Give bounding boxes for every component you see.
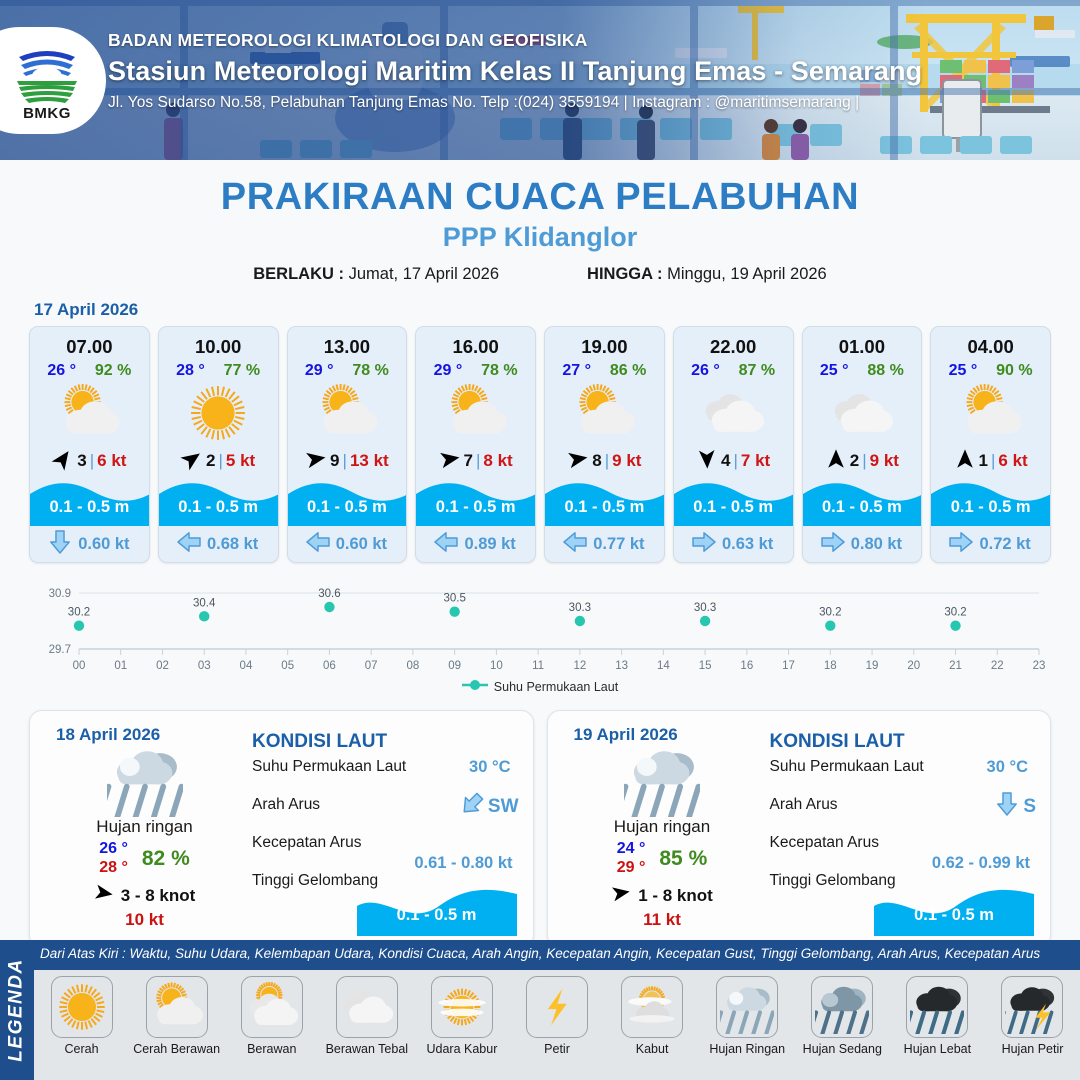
svg-text:04: 04 (240, 660, 253, 672)
card-wind-row: 1 | 6 kt (931, 444, 1050, 478)
card-time: 19.00 (545, 327, 664, 358)
card-weather-partly-cloudy-icon (545, 382, 664, 444)
wind-separator: | (219, 451, 223, 471)
current-speed-value: 0.61 - 0.80 kt (414, 854, 512, 873)
legend-item-label: Cerah (34, 1042, 129, 1056)
card-wave-block: 0.1 - 0.5 m (931, 478, 1050, 526)
day-weather-light-rain-icon (570, 743, 755, 815)
svg-text:30.3: 30.3 (694, 602, 716, 614)
legend-heavy-rain-icon (906, 976, 968, 1038)
svg-text:30.9: 30.9 (49, 588, 71, 600)
bmkg-logo-text: BMKG (7, 105, 87, 122)
page-header: BMKG BADAN METEOROLOGI KLIMATOLOGI DAN G… (0, 0, 1080, 160)
svg-text:00: 00 (73, 660, 86, 672)
wind-separator: | (862, 451, 866, 471)
wind-direction-arrow-icon (567, 448, 589, 475)
legend-fog-icon (621, 976, 683, 1038)
card-wind-row: 4 | 7 kt (674, 444, 793, 478)
card-gust: 13 kt (350, 451, 389, 471)
card-wind-speed: 1 (979, 451, 988, 471)
card-humidity: 78 % (481, 362, 517, 380)
sst-label: Suhu Permukaan Laut (252, 758, 406, 775)
wind-direction-arrow-icon (52, 448, 74, 475)
day-humidity: 82 % (142, 847, 190, 871)
card-gust: 6 kt (998, 451, 1027, 471)
current-direction-arrow-icon (822, 530, 844, 559)
card-current-speed: 0.72 kt (979, 535, 1030, 554)
valid-from: BERLAKU : Jumat, 17 April 2026 (253, 265, 499, 284)
current-direction-arrow-icon (49, 530, 71, 559)
day-gust: 10 kt (52, 910, 237, 930)
day-summary: 18 April 2026 Hujan ringan 26 ° 28 ° 82 … (52, 725, 237, 930)
svg-text:30.2: 30.2 (68, 607, 90, 619)
daily-forecast-panel: 19 April 2026 Hujan ringan 24 ° 29 ° 85 … (547, 710, 1052, 948)
forecast-card: 04.00 25 ° 90 % 1 | 6 kt 0.1 - 0.5 m 0.7… (930, 326, 1051, 563)
day-wind-direction-arrow-icon (611, 883, 631, 908)
card-wave-block: 0.1 - 0.5 m (30, 478, 149, 526)
legend-item: Cerah Berawan (129, 976, 224, 1056)
sst-value: 30 °C (469, 758, 510, 777)
current-direction-line: Arah Arus S (770, 796, 1037, 834)
svg-text:01: 01 (114, 660, 127, 672)
card-weather-cloudy-icon (803, 382, 922, 444)
legend-item-label: Kabut (605, 1042, 700, 1056)
svg-text:15: 15 (699, 660, 712, 672)
current-direction-arrow-icon (950, 530, 972, 559)
card-wave-block: 0.1 - 0.5 m (159, 478, 278, 526)
wave-height-line: Tinggi Gelombang 0.1 - 0.5 m (252, 872, 519, 910)
sst-chart: 30.929.700010203040506070809101112131415… (29, 577, 1051, 673)
agency-name: BADAN METEOROLOGI KLIMATOLOGI DAN GEOFIS… (108, 30, 922, 51)
wave-height-value: 0.1 - 0.5 m (357, 906, 517, 925)
card-current-speed: 0.68 kt (207, 535, 258, 554)
card-temperature: 28 ° (176, 362, 205, 380)
legend-item-label: Hujan Petir (985, 1042, 1080, 1056)
sst-line: Suhu Permukaan Laut 30 °C (252, 758, 519, 796)
current-direction-arrow-icon (307, 530, 329, 559)
svg-text:30.4: 30.4 (193, 597, 216, 609)
day-summary: 19 April 2026 Hujan ringan 24 ° 29 ° 85 … (570, 725, 755, 930)
legend-item-label: Udara Kabur (414, 1042, 509, 1056)
card-temp-hum-row: 25 ° 90 % (931, 358, 1050, 380)
legend-item: Kabut (605, 976, 700, 1056)
valid-until-value: Minggu, 19 April 2026 (667, 265, 827, 283)
forecast-card: 16.00 29 ° 78 % 7 | 8 kt 0.1 - 0.5 m 0.8… (415, 326, 536, 563)
card-time: 22.00 (674, 327, 793, 358)
current-direction-value: S (1023, 796, 1036, 818)
svg-text:03: 03 (198, 660, 211, 672)
current-speed-value: 0.62 - 0.99 kt (932, 854, 1030, 873)
card-current-row: 0.89 kt (416, 526, 535, 562)
current-direction-arrow-icon (178, 530, 200, 559)
legend-item: Berawan Tebal (319, 976, 414, 1056)
current-direction-arrow-icon (435, 530, 457, 559)
svg-text:30.6: 30.6 (318, 588, 340, 600)
day-temp-row: 24 ° 29 ° 85 % (570, 840, 755, 877)
day-wind-direction-arrow-icon (94, 883, 114, 908)
day-wind-speed: 3 - 8 knot (121, 886, 196, 906)
card-temp-hum-row: 28 ° 77 % (159, 358, 278, 380)
svg-text:06: 06 (323, 660, 336, 672)
current-speed-line: Kecepatan Arus 0.61 - 0.80 kt (252, 834, 519, 872)
card-wind-speed: 9 (330, 451, 339, 471)
legend-item-label: Berawan Tebal (319, 1042, 414, 1056)
legend-items-strip: Cerah Cerah Berawan Berawan Berawan Teba… (34, 970, 1080, 1080)
legend-note: Dari Atas Kiri : Waktu, Suhu Udara, Kele… (40, 946, 1074, 961)
forecast-card: 13.00 29 ° 78 % 9 | 13 kt 0.1 - 0.5 m 0.… (287, 326, 408, 563)
card-wave-block: 0.1 - 0.5 m (545, 478, 664, 526)
page-subtitle: PPP Klidanglor (0, 222, 1080, 253)
sea-conditions: KONDISI LAUT Suhu Permukaan Laut 30 °C A… (770, 731, 1037, 910)
card-current-row: 0.68 kt (159, 526, 278, 562)
svg-text:11: 11 (532, 660, 544, 672)
day-wind-row: 1 - 8 knot (570, 883, 755, 908)
legend-light-rain-icon (716, 976, 778, 1038)
day-temp-col: 26 ° 28 ° (99, 840, 128, 877)
daily-forecast-row: 18 April 2026 Hujan ringan 26 ° 28 ° 82 … (0, 694, 1080, 948)
card-wind-speed: 4 (721, 451, 730, 471)
day-temp-min: 26 ° (99, 840, 128, 858)
svg-text:10: 10 (490, 660, 503, 672)
day-temp-col: 24 ° 29 ° (617, 840, 646, 877)
svg-text:19: 19 (866, 660, 879, 672)
day-temp-row: 26 ° 28 ° 82 % (52, 840, 237, 877)
legend-item: Berawan (224, 976, 319, 1056)
card-wind-row: 3 | 6 kt (30, 444, 149, 478)
wind-direction-arrow-icon (954, 448, 976, 475)
card-temp-hum-row: 26 ° 92 % (30, 358, 149, 380)
card-current-speed: 0.60 kt (78, 535, 129, 554)
card-wind-row: 8 | 9 kt (545, 444, 664, 478)
legend-haze-icon (431, 976, 493, 1038)
current-speed-label: Kecepatan Arus (770, 834, 879, 851)
card-humidity: 88 % (867, 362, 903, 380)
card-wind-speed: 8 (592, 451, 601, 471)
card-wind-row: 2 | 5 kt (159, 444, 278, 478)
card-current-speed: 0.63 kt (722, 535, 773, 554)
card-wind-speed: 3 (77, 451, 86, 471)
current-direction-value-group: SW (461, 792, 519, 821)
card-wave-height: 0.1 - 0.5 m (30, 498, 149, 517)
sea-conditions: KONDISI LAUT Suhu Permukaan Laut 30 °C A… (252, 731, 519, 910)
station-name: Stasiun Meteorologi Maritim Kelas II Tan… (108, 56, 922, 87)
valid-until: HINGGA : Minggu, 19 April 2026 (587, 265, 827, 284)
wave-height-value: 0.1 - 0.5 m (874, 906, 1034, 925)
card-weather-sunny-icon (159, 382, 278, 444)
legend-cloudy-icon (336, 976, 398, 1038)
page-title: PRAKIRAAN CUACA PELABUHAN (0, 176, 1080, 219)
legend-item: Petir (509, 976, 604, 1056)
legend-tab-label: LEGENDA (6, 958, 28, 1061)
title-block: PRAKIRAAN CUACA PELABUHAN PPP Klidanglor… (0, 176, 1080, 284)
card-gust: 9 kt (870, 451, 899, 471)
card-current-row: 0.63 kt (674, 526, 793, 562)
legend-thunderstorm-icon (1001, 976, 1063, 1038)
svg-text:20: 20 (907, 660, 920, 672)
card-wind-row: 2 | 9 kt (803, 444, 922, 478)
card-time: 07.00 (30, 327, 149, 358)
forecast-date-label: 17 April 2026 (34, 300, 1080, 320)
card-weather-partly-cloudy-icon (30, 382, 149, 444)
card-current-speed: 0.80 kt (851, 535, 902, 554)
card-time: 16.00 (416, 327, 535, 358)
chart-legend: Suhu Permukaan Laut (0, 679, 1080, 694)
card-humidity: 90 % (996, 362, 1032, 380)
legend-item-label: Hujan Ringan (700, 1042, 795, 1056)
forecast-card: 22.00 26 ° 87 % 4 | 7 kt 0.1 - 0.5 m 0.6… (673, 326, 794, 563)
card-weather-partly-cloudy-icon (931, 382, 1050, 444)
current-direction-label: Arah Arus (252, 796, 320, 813)
card-wave-block: 0.1 - 0.5 m (803, 478, 922, 526)
validity-row: BERLAKU : Jumat, 17 April 2026 HINGGA : … (0, 265, 1080, 284)
wind-direction-arrow-icon (825, 448, 847, 475)
forecast-card: 19.00 27 ° 86 % 8 | 9 kt 0.1 - 0.5 m 0.7… (544, 326, 665, 563)
svg-text:12: 12 (573, 660, 586, 672)
card-temp-hum-row: 26 ° 87 % (674, 358, 793, 380)
card-wave-height: 0.1 - 0.5 m (803, 498, 922, 517)
svg-text:08: 08 (407, 660, 420, 672)
station-address: Jl. Yos Sudarso No.58, Pelabuhan Tanjung… (108, 94, 922, 112)
wind-separator: | (734, 451, 738, 471)
legend-mostly-cloudy-icon (241, 976, 303, 1038)
day-weather-light-rain-icon (52, 743, 237, 815)
card-wind-speed: 7 (464, 451, 473, 471)
svg-text:30.5: 30.5 (443, 593, 465, 605)
wind-separator: | (991, 451, 995, 471)
card-current-row: 0.80 kt (803, 526, 922, 562)
legend-item-label: Hujan Sedang (795, 1042, 890, 1056)
card-temp-hum-row: 25 ° 88 % (803, 358, 922, 380)
wind-direction-arrow-icon (305, 448, 327, 475)
wind-separator: | (605, 451, 609, 471)
day-temp-max: 28 ° (99, 859, 128, 877)
card-wave-height: 0.1 - 0.5 m (288, 498, 407, 517)
legend-item: Hujan Petir (985, 976, 1080, 1056)
wind-separator: | (90, 451, 94, 471)
card-humidity: 92 % (95, 362, 131, 380)
card-wind-row: 7 | 8 kt (416, 444, 535, 478)
legend-item-label: Hujan Lebat (890, 1042, 985, 1056)
current-direction-value: SW (488, 796, 519, 818)
card-current-row: 0.77 kt (545, 526, 664, 562)
card-wind-row: 9 | 13 kt (288, 444, 407, 478)
valid-until-label: HINGGA : (587, 265, 662, 283)
card-temp-hum-row: 27 ° 86 % (545, 358, 664, 380)
day-temp-min: 24 ° (617, 840, 646, 858)
card-time: 10.00 (159, 327, 278, 358)
card-wave-height: 0.1 - 0.5 m (416, 498, 535, 517)
card-temperature: 27 ° (562, 362, 591, 380)
card-current-row: 0.72 kt (931, 526, 1050, 562)
svg-text:14: 14 (657, 660, 670, 672)
svg-text:09: 09 (448, 660, 461, 672)
card-temp-hum-row: 29 ° 78 % (416, 358, 535, 380)
card-wave-height: 0.1 - 0.5 m (545, 498, 664, 517)
card-humidity: 78 % (352, 362, 388, 380)
card-time: 13.00 (288, 327, 407, 358)
day-wind-row: 3 - 8 knot (52, 883, 237, 908)
current-direction-arrow-icon (693, 530, 715, 559)
card-weather-cloudy-icon (674, 382, 793, 444)
card-gust: 9 kt (612, 451, 641, 471)
wave-height-badge: 0.1 - 0.5 m (874, 884, 1034, 936)
card-gust: 5 kt (226, 451, 255, 471)
day-wind-speed: 1 - 8 knot (638, 886, 713, 906)
day-gust: 11 kt (570, 910, 755, 930)
wind-separator: | (343, 451, 347, 471)
svg-text:29.7: 29.7 (49, 644, 71, 656)
current-direction-label: Arah Arus (770, 796, 838, 813)
chart-legend-label: Suhu Permukaan Laut (494, 680, 618, 694)
wind-direction-arrow-icon (439, 448, 461, 475)
card-humidity: 77 % (224, 362, 260, 380)
card-weather-partly-cloudy-icon (288, 382, 407, 444)
svg-text:23: 23 (1033, 660, 1046, 672)
day-condition: Hujan ringan (570, 817, 755, 837)
card-current-speed: 0.60 kt (336, 535, 387, 554)
legend-section: LEGENDA Dari Atas Kiri : Waktu, Suhu Uda… (0, 940, 1080, 1080)
day-condition: Hujan ringan (52, 817, 237, 837)
arrow-sw-icon (461, 792, 483, 821)
legend-sunny-icon (51, 976, 113, 1038)
card-gust: 8 kt (483, 451, 512, 471)
hourly-forecast-row: 07.00 26 ° 92 % 3 | 6 kt 0.1 - 0.5 m 0.6… (0, 326, 1080, 563)
forecast-card: 10.00 28 ° 77 % 2 | 5 kt 0.1 - 0.5 m 0.6… (158, 326, 279, 563)
svg-text:30.3: 30.3 (569, 602, 591, 614)
card-time: 01.00 (803, 327, 922, 358)
card-time: 04.00 (931, 327, 1050, 358)
svg-text:07: 07 (365, 660, 378, 672)
day-temp-max: 29 ° (617, 859, 646, 877)
svg-text:30.2: 30.2 (819, 607, 841, 619)
card-humidity: 87 % (739, 362, 775, 380)
card-temperature: 26 ° (691, 362, 720, 380)
valid-from-value: Jumat, 17 April 2026 (349, 265, 499, 283)
sea-conditions-title: KONDISI LAUT (252, 731, 519, 753)
card-wave-block: 0.1 - 0.5 m (674, 478, 793, 526)
svg-text:05: 05 (281, 660, 294, 672)
card-temperature: 26 ° (47, 362, 76, 380)
legend-item: Hujan Sedang (795, 976, 890, 1056)
card-temperature: 29 ° (434, 362, 463, 380)
wave-height-badge: 0.1 - 0.5 m (357, 884, 517, 936)
valid-from-label: BERLAKU : (253, 265, 344, 283)
legend-moderate-rain-icon (811, 976, 873, 1038)
legend-item: Cerah (34, 976, 129, 1056)
svg-text:02: 02 (156, 660, 169, 672)
svg-text:13: 13 (615, 660, 628, 672)
sst-value: 30 °C (987, 758, 1028, 777)
card-wave-height: 0.1 - 0.5 m (931, 498, 1050, 517)
current-direction-arrow-icon (564, 530, 586, 559)
card-current-speed: 0.89 kt (464, 535, 515, 554)
sst-label: Suhu Permukaan Laut (770, 758, 924, 775)
card-humidity: 86 % (610, 362, 646, 380)
card-current-row: 0.60 kt (30, 526, 149, 562)
card-current-speed: 0.77 kt (593, 535, 644, 554)
svg-text:30.2: 30.2 (944, 607, 966, 619)
sea-conditions-title: KONDISI LAUT (770, 731, 1037, 753)
wind-direction-arrow-icon (181, 448, 203, 475)
card-wave-block: 0.1 - 0.5 m (288, 478, 407, 526)
wave-height-line: Tinggi Gelombang 0.1 - 0.5 m (770, 872, 1037, 910)
card-wave-height: 0.1 - 0.5 m (674, 498, 793, 517)
card-gust: 7 kt (741, 451, 770, 471)
svg-text:16: 16 (740, 660, 753, 672)
legend-item-label: Petir (509, 1042, 604, 1056)
svg-text:17: 17 (782, 660, 795, 672)
forecast-card: 01.00 25 ° 88 % 2 | 9 kt 0.1 - 0.5 m 0.8… (802, 326, 923, 563)
svg-text:21: 21 (949, 660, 962, 672)
current-speed-line: Kecepatan Arus 0.62 - 0.99 kt (770, 834, 1037, 872)
current-speed-label: Kecepatan Arus (252, 834, 361, 851)
legend-item-label: Berawan (224, 1042, 319, 1056)
forecast-card: 07.00 26 ° 92 % 3 | 6 kt 0.1 - 0.5 m 0.6… (29, 326, 150, 563)
legend-item: Hujan Lebat (890, 976, 985, 1056)
legend-lightning-icon (526, 976, 588, 1038)
card-temp-hum-row: 29 ° 78 % (288, 358, 407, 380)
current-direction-value-group: S (996, 792, 1036, 821)
card-wind-speed: 2 (206, 451, 215, 471)
card-wave-height: 0.1 - 0.5 m (159, 498, 278, 517)
arrow-s-icon (996, 792, 1018, 821)
card-current-row: 0.60 kt (288, 526, 407, 562)
sst-line: Suhu Permukaan Laut 30 °C (770, 758, 1037, 796)
card-temperature: 25 ° (949, 362, 978, 380)
card-gust: 6 kt (97, 451, 126, 471)
current-direction-line: Arah Arus SW (252, 796, 519, 834)
chart-legend-marker (462, 679, 488, 694)
legend-item: Udara Kabur (414, 976, 509, 1056)
svg-text:18: 18 (824, 660, 837, 672)
card-wave-block: 0.1 - 0.5 m (416, 478, 535, 526)
legend-item-label: Cerah Berawan (129, 1042, 224, 1056)
wind-direction-arrow-icon (696, 448, 718, 475)
legend-tab: LEGENDA (0, 940, 34, 1080)
legend-partly-cloudy-icon (146, 976, 208, 1038)
svg-text:22: 22 (991, 660, 1004, 672)
card-weather-partly-cloudy-icon (416, 382, 535, 444)
legend-item: Hujan Ringan (700, 976, 795, 1056)
wind-separator: | (476, 451, 480, 471)
bmkg-logo: BMKG (0, 27, 106, 134)
card-wind-speed: 2 (850, 451, 859, 471)
daily-forecast-panel: 18 April 2026 Hujan ringan 26 ° 28 ° 82 … (29, 710, 534, 948)
day-humidity: 85 % (659, 847, 707, 871)
header-text-block: BADAN METEOROLOGI KLIMATOLOGI DAN GEOFIS… (108, 30, 922, 112)
card-temperature: 29 ° (305, 362, 334, 380)
card-temperature: 25 ° (820, 362, 849, 380)
